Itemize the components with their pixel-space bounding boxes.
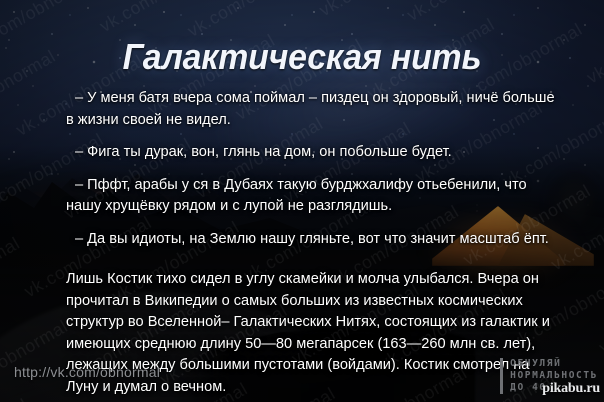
dialogue-line: – У меня батя вчера сома поймал – пиздец…	[66, 88, 556, 131]
image-macro-canvas: vk.com/obnormalvk.com/obnormalvk.com/obn…	[0, 0, 604, 402]
source-url-watermark: http://vk.com/obnormal	[14, 364, 160, 380]
dialogue-line: – Пффт, арабы у ся в Дубаях такую бурджх…	[66, 175, 556, 218]
story-text-block: – У меня батя вчера сома поймал – пиздец…	[66, 88, 556, 398]
dialogue-line: – Фига ты дурак, вон, глянь на дом, он п…	[66, 142, 556, 164]
page-title: Галактическая нить	[18, 36, 586, 78]
pikabu-watermark: pikabu.ru	[542, 381, 600, 397]
dialogue-line: – Да вы идиоты, на Землю нашу гляньте, в…	[66, 229, 556, 251]
community-stamp-line-1: ОБНУЛЯЙ	[510, 358, 598, 370]
